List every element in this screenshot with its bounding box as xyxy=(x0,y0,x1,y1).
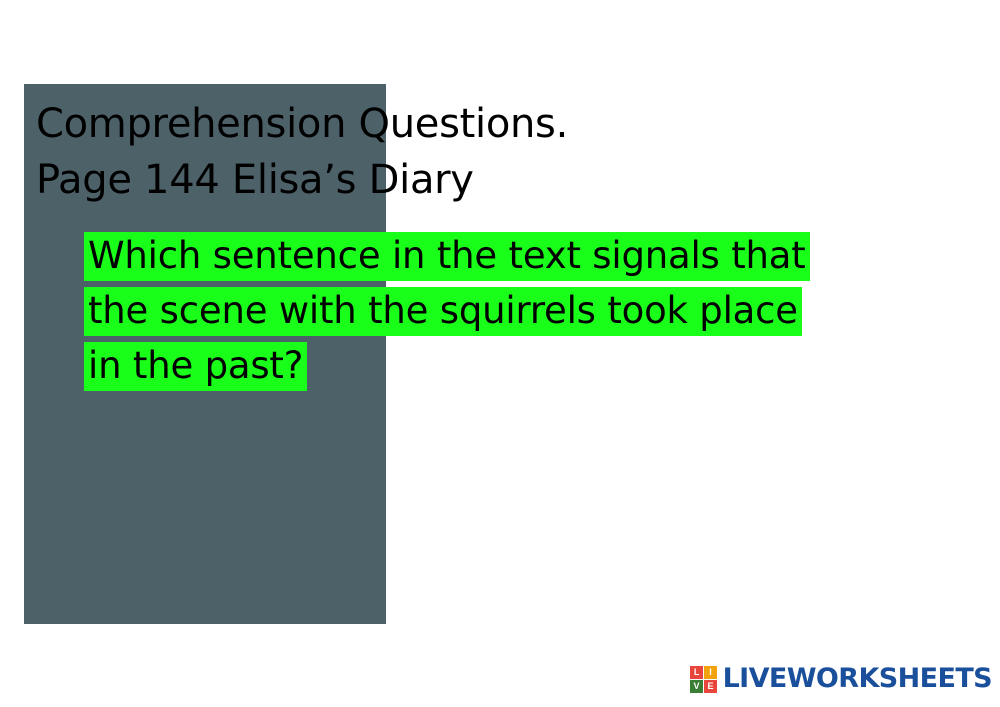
logo-icon-row-top: L I xyxy=(690,665,718,679)
question-line-2: the scene with the squirrels took place xyxy=(84,283,914,338)
liveworksheets-logo-icon: L I V E xyxy=(690,665,718,693)
page-title: Comprehension Questions. Page 144 Elisa’… xyxy=(36,96,856,208)
worksheet-page: Comprehension Questions. Page 144 Elisa’… xyxy=(0,0,1000,707)
question-text: Which sentence in the text signals that … xyxy=(84,228,914,393)
logo-icon-row-bottom: V E xyxy=(690,679,718,693)
logo-letter-l: L xyxy=(690,666,703,679)
logo-letter-v: V xyxy=(690,680,703,693)
question-line-2-text: the scene with the squirrels took place xyxy=(84,287,802,336)
logo-letter-e: E xyxy=(704,680,717,693)
liveworksheets-wordmark: LIVEWORKSHEETS xyxy=(723,664,992,694)
page-title-line-1: Comprehension Questions. xyxy=(36,96,856,152)
logo-letter-i: I xyxy=(704,666,717,679)
question-line-3-text: in the past? xyxy=(84,342,307,391)
question-line-1: Which sentence in the text signals that xyxy=(84,228,914,283)
question-line-3: in the past? xyxy=(84,338,914,393)
liveworksheets-logo: L I V E LIVEWORKSHEETS xyxy=(690,659,992,699)
question-line-1-text: Which sentence in the text signals that xyxy=(84,232,810,281)
page-title-line-2: Page 144 Elisa’s Diary xyxy=(36,152,856,208)
